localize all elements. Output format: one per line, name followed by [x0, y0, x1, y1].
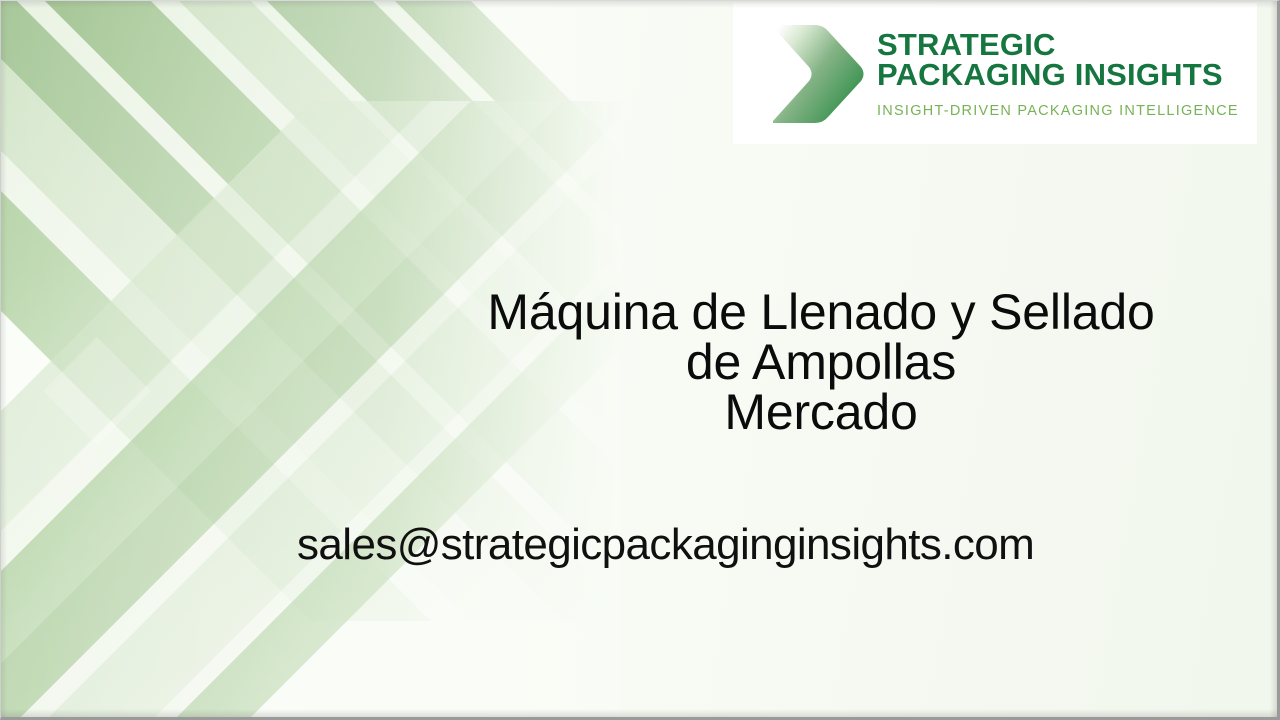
contact-email[interactable]: sales@strategicpackaginginsights.com	[297, 520, 1034, 570]
logo-line-1: STRATEGIC	[877, 30, 1239, 60]
logo-tagline: INSIGHT-DRIVEN PACKAGING INTELLIGENCE	[877, 103, 1239, 119]
page-title: Máquina de Llenado y Sellado de Ampollas…	[421, 287, 1221, 437]
title-line-2: de Ampollas	[421, 337, 1221, 387]
company-logo: STRATEGIC PACKAGING INSIGHTS INSIGHT-DRI…	[733, 3, 1257, 144]
title-line-1: Máquina de Llenado y Sellado	[421, 287, 1221, 337]
logo-wordmark: STRATEGIC PACKAGING INSIGHTS INSIGHT-DRI…	[877, 30, 1239, 120]
title-slide: STRATEGIC PACKAGING INSIGHTS INSIGHT-DRI…	[0, 0, 1280, 720]
title-line-3: Mercado	[421, 387, 1221, 437]
chevron-arrow-icon	[757, 19, 869, 129]
logo-line-2: PACKAGING INSIGHTS	[877, 60, 1239, 90]
